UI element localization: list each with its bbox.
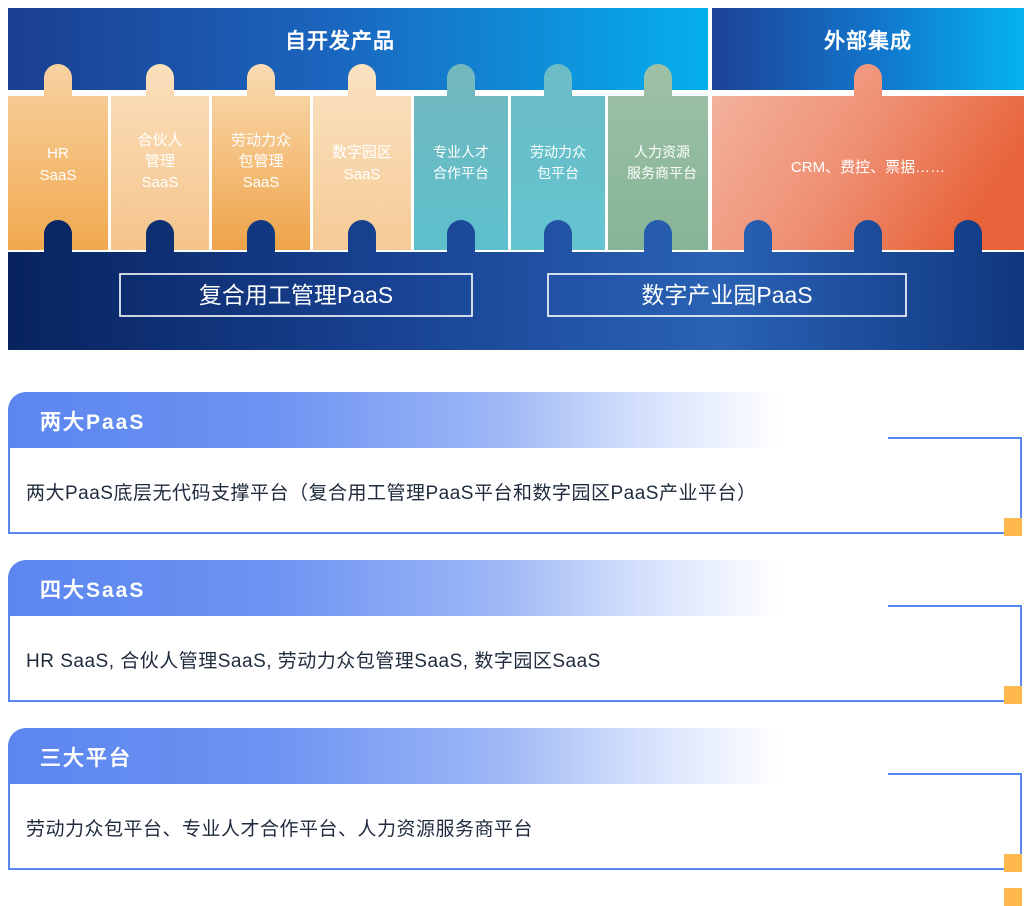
column-label-hr-saas-l1: SaaS <box>40 167 77 184</box>
architecture-diagram: 自开发产品 外部集成 HR SaaS 合伙人 管理 SaaS 劳动力众 包管理 … <box>0 0 1032 352</box>
card-two-paas-header: 两大PaaS <box>8 392 888 448</box>
card-three-platforms-header: 三大平台 <box>8 728 888 784</box>
column-label-partner-l1: 管理 <box>145 153 175 170</box>
column-label-park-saas-l0: 数字园区 <box>332 144 392 161</box>
banner-label-self-developed: 自开发产品 <box>285 29 395 53</box>
column-label-partner-l2: SaaS <box>142 174 179 191</box>
banner-label-external-integration: 外部集成 <box>824 29 912 53</box>
column-label-partner-l0: 合伙人 <box>137 132 182 149</box>
column-label-external-products: CRM、费控、票据…… <box>791 159 945 176</box>
column-label-crowd-plat-l1: 包平台 <box>537 165 579 181</box>
paas-block-label-composite-labor: 复合用工管理PaaS <box>199 282 393 308</box>
card-four-saas-body: HR SaaS, 合伙人管理SaaS, 劳动力众包管理SaaS, 数字园区Saa… <box>26 646 601 673</box>
card-three-platforms-title: 三大平台 <box>40 742 132 772</box>
column-label-park-saas-l1: SaaS <box>344 166 381 183</box>
column-label-crowd-saas-l0: 劳动力众 <box>231 132 291 149</box>
accent-square-orange <box>1004 854 1022 872</box>
column-label-talent-l1: 合作平台 <box>433 165 489 181</box>
paas-block-label-digital-industry-park: 数字产业园PaaS <box>641 282 812 308</box>
accent-square-orange <box>1004 686 1022 704</box>
accent-square-orange <box>1004 518 1022 536</box>
column-label-crowd-saas-l2: SaaS <box>243 174 280 191</box>
column-label-hr-saas-l0: HR <box>47 145 69 162</box>
card-three-platforms-body: 劳动力众包平台、专业人才合作平台、人力资源服务商平台 <box>26 814 533 841</box>
column-label-crowd-plat-l0: 劳动力众 <box>530 144 586 160</box>
column-label-hr-service-l1: 服务商平台 <box>627 165 697 181</box>
card-four-saas-header: 四大SaaS <box>8 560 888 616</box>
card-two-paas-title: 两大PaaS <box>40 406 145 436</box>
accent-square-orange-secondary <box>1004 888 1022 906</box>
column-label-talent-l0: 专业人才 <box>433 144 489 160</box>
column-label-hr-service-l0: 人力资源 <box>634 144 690 160</box>
card-four-saas-title: 四大SaaS <box>40 574 145 604</box>
card-two-paas-body: 两大PaaS底层无代码支撑平台（复合用工管理PaaS平台和数字园区PaaS产业平… <box>26 478 756 505</box>
column-label-crowd-saas-l1: 包管理 <box>238 153 283 170</box>
